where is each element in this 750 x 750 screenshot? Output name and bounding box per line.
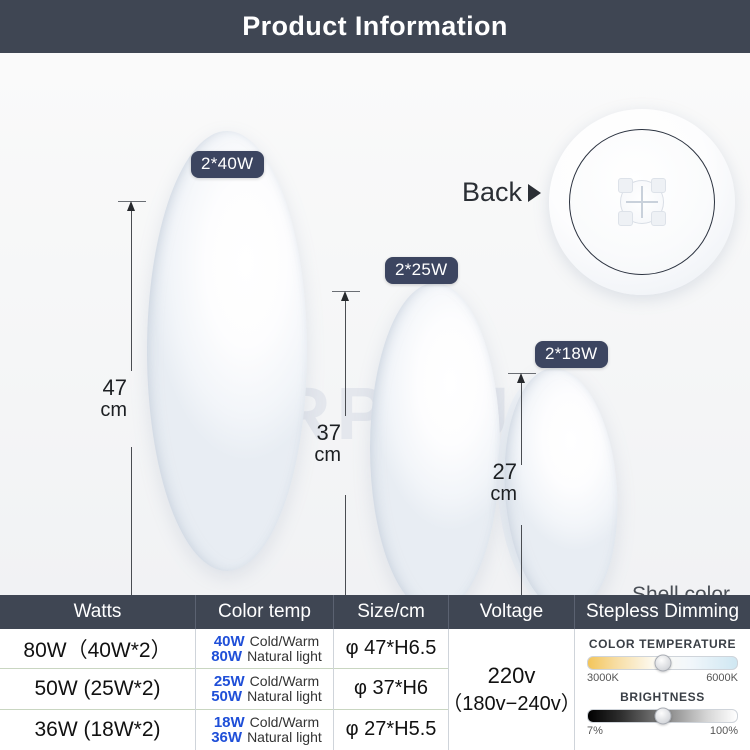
color-temp-watt: 25W <box>214 674 245 689</box>
watt-badge-large: 2*40W <box>191 151 264 178</box>
color-temp-line: 18W Cold/Warm <box>214 715 319 730</box>
color-temp-watt: 36W <box>211 730 242 745</box>
color-temp-min-label: 3000K <box>587 672 619 684</box>
dimension-value: 47 <box>103 375 127 400</box>
dimension-label-37: 37 cm <box>299 422 341 466</box>
dimension-shaft-lower <box>131 447 132 595</box>
dimension-arrowhead-top <box>341 291 349 301</box>
lamp-medium-25w <box>370 283 500 595</box>
back-view-label: Back <box>462 177 541 208</box>
voltage-cell: 220v （180v−240v） <box>449 629 574 750</box>
dimming-panel: COLOR TEMPERATURE 3000K 6000K BRIGHTNESS… <box>575 629 750 750</box>
dimension-unit: cm <box>299 444 341 466</box>
bracket-lug <box>618 178 633 193</box>
product-information-page: Product Information MARPOU 2*40W 2*25W 2… <box>0 0 750 750</box>
size-value: φ 27*H5.5 <box>346 718 437 741</box>
bracket-lug <box>618 211 633 226</box>
color-temp-watt: 18W <box>214 715 245 730</box>
specification-table: Watts Color temp Size/cm Voltage Steples… <box>0 595 750 750</box>
watt-badge-small: 2*18W <box>535 341 608 368</box>
color-temp-line: 25W Cold/Warm <box>214 674 319 689</box>
column-header-watts: Watts <box>0 595 196 629</box>
lamp-face <box>370 283 500 595</box>
brightness-max-label: 100% <box>710 725 738 737</box>
table-row: φ 47*H6.5 <box>334 629 448 669</box>
table-row: 36W (18W*2) <box>0 710 195 750</box>
color-temp-type: Cold/Warm <box>250 715 320 730</box>
column-header-color-temp: Color temp <box>196 595 334 629</box>
column-header-voltage: Voltage <box>449 595 575 629</box>
watts-value: 36W (18W*2) <box>34 718 160 742</box>
watts-value: 50W (25W*2) <box>34 677 160 701</box>
color-temp-line: 80W Natural light <box>211 649 322 664</box>
table-row: 25W Cold/Warm 50W Natural light <box>196 669 333 709</box>
bracket-lug <box>651 178 666 193</box>
page-header: Product Information <box>0 0 750 53</box>
column-stepless-dimming: COLOR TEMPERATURE 3000K 6000K BRIGHTNESS… <box>575 629 750 750</box>
dimension-unit: cm <box>475 483 517 505</box>
back-view-text: Back <box>462 177 522 208</box>
dimension-shaft-upper <box>521 383 522 465</box>
table-body: 80W（40W*2） 50W (25W*2) 36W (18W*2) 40W C… <box>0 629 750 750</box>
color-temperature-slider[interactable] <box>587 656 738 670</box>
color-temp-type: Natural light <box>247 689 322 704</box>
bracket-lug <box>651 211 666 226</box>
table-row: 40W Cold/Warm 80W Natural light <box>196 629 333 669</box>
dimension-arrowhead-top <box>517 373 525 383</box>
column-header-stepless-dimming: Stepless Dimming <box>575 595 750 629</box>
color-temp-max-label: 6000K <box>706 672 738 684</box>
size-value: φ 47*H6.5 <box>346 637 437 660</box>
brightness-slider-label: BRIGHTNESS <box>587 690 738 704</box>
color-temperature-slider-knob[interactable] <box>654 655 671 672</box>
voltage-main: 220v <box>488 662 536 690</box>
size-value: φ 37*H6 <box>354 677 428 700</box>
voltage-range: （180v−240v） <box>442 690 580 718</box>
color-temp-line: 40W Cold/Warm <box>214 634 319 649</box>
lamp-face <box>147 131 307 571</box>
table-row: 50W (25W*2) <box>0 669 195 709</box>
column-color-temp: 40W Cold/Warm 80W Natural light 25W Cold… <box>196 629 334 750</box>
dimension-value: 37 <box>317 420 341 445</box>
table-row: 18W Cold/Warm 36W Natural light <box>196 710 333 750</box>
shell-color-group: Shell color Black White <box>622 583 740 595</box>
table-row: 80W（40W*2） <box>0 629 195 669</box>
brightness-slider-knob[interactable] <box>654 708 671 725</box>
watt-badge-medium: 2*25W <box>385 257 458 284</box>
brightness-min-label: 7% <box>587 725 603 737</box>
dimension-value: 27 <box>493 459 517 484</box>
table-row: φ 27*H5.5 <box>334 710 448 750</box>
color-temp-line: 50W Natural light <box>211 689 322 704</box>
color-temp-watt: 50W <box>211 689 242 704</box>
color-temp-type: Natural light <box>247 730 322 745</box>
color-temp-watt: 40W <box>214 634 245 649</box>
column-voltage: 220v （180v−240v） <box>449 629 575 750</box>
caret-right-icon <box>528 184 541 202</box>
lamp-large-40w <box>147 131 307 571</box>
mounting-bracket-icon <box>620 180 664 224</box>
dimension-arrowhead-top <box>127 201 135 211</box>
column-size: φ 47*H6.5 φ 37*H6 φ 27*H5.5 <box>334 629 449 750</box>
dimension-unit: cm <box>85 399 127 421</box>
table-header-row: Watts Color temp Size/cm Voltage Steples… <box>0 595 750 629</box>
page-title: Product Information <box>242 11 508 42</box>
dimension-shaft-upper <box>345 301 346 416</box>
watts-value: 80W（40W*2） <box>23 634 171 664</box>
dimension-shaft-upper <box>131 211 132 371</box>
dimension-shaft-lower <box>345 495 346 595</box>
color-temperature-slider-label: COLOR TEMPERATURE <box>587 637 738 651</box>
dimension-shaft-lower <box>521 525 522 595</box>
color-temp-type: Cold/Warm <box>250 674 320 689</box>
column-header-size: Size/cm <box>334 595 449 629</box>
back-view-image <box>549 109 735 295</box>
table-row: φ 37*H6 <box>334 669 448 709</box>
color-temp-watt: 80W <box>211 649 242 664</box>
dimension-label-27: 27 cm <box>475 461 517 505</box>
color-temp-line: 36W Natural light <box>211 730 322 745</box>
color-temp-type: Cold/Warm <box>250 634 320 649</box>
brightness-scale: 7% 100% <box>587 725 738 737</box>
color-temperature-scale: 3000K 6000K <box>587 672 738 684</box>
column-watts: 80W（40W*2） 50W (25W*2) 36W (18W*2) <box>0 629 196 750</box>
color-temp-type: Natural light <box>247 649 322 664</box>
dimension-label-47: 47 cm <box>85 377 127 421</box>
shell-color-title: Shell color <box>622 583 740 595</box>
brightness-slider[interactable] <box>587 709 738 723</box>
product-showcase: MARPOU 2*40W 2*25W 2*18W 47 <box>0 53 750 595</box>
